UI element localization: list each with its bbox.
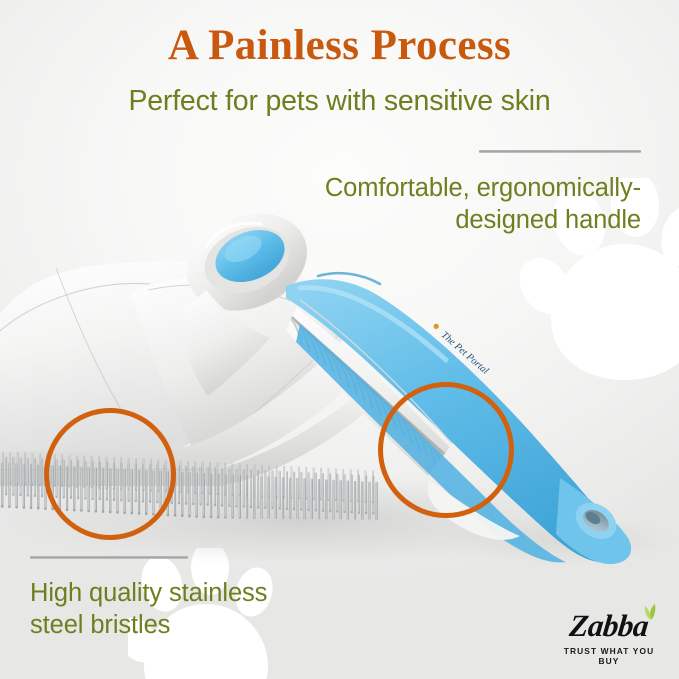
product-marketing-image: The Pet Portal A Painless Process Perfec… xyxy=(0,0,679,679)
callout-bristles: High quality stainless steel bristles xyxy=(30,556,370,642)
callout-handle-line1: Comfortable, ergonomically- xyxy=(221,172,641,204)
annotation-circle-bristles xyxy=(44,408,176,540)
callout-bristles-line1: High quality stainless xyxy=(30,577,370,609)
callout-handle-text: Comfortable, ergonomically- designed han… xyxy=(221,172,641,237)
page-subtitle: Perfect for pets with sensitive skin xyxy=(0,85,679,118)
callout-bristles-text: High quality stainless steel bristles xyxy=(30,577,370,642)
leaf-icon xyxy=(641,603,661,621)
callout-bristles-line2: steel bristles xyxy=(30,609,370,641)
page-title: A Painless Process xyxy=(0,24,679,67)
callout-rule-handle xyxy=(479,150,641,153)
annotation-circle-handle xyxy=(378,382,514,518)
callout-handle-line2: designed handle xyxy=(221,204,641,236)
brand-logo: Zabba TRUST WHAT YOU BUY xyxy=(553,610,665,666)
callout-handle: Comfortable, ergonomically- designed han… xyxy=(221,150,641,237)
logo-tagline: TRUST WHAT YOU BUY xyxy=(553,646,665,666)
callout-rule-bristles xyxy=(30,556,188,559)
